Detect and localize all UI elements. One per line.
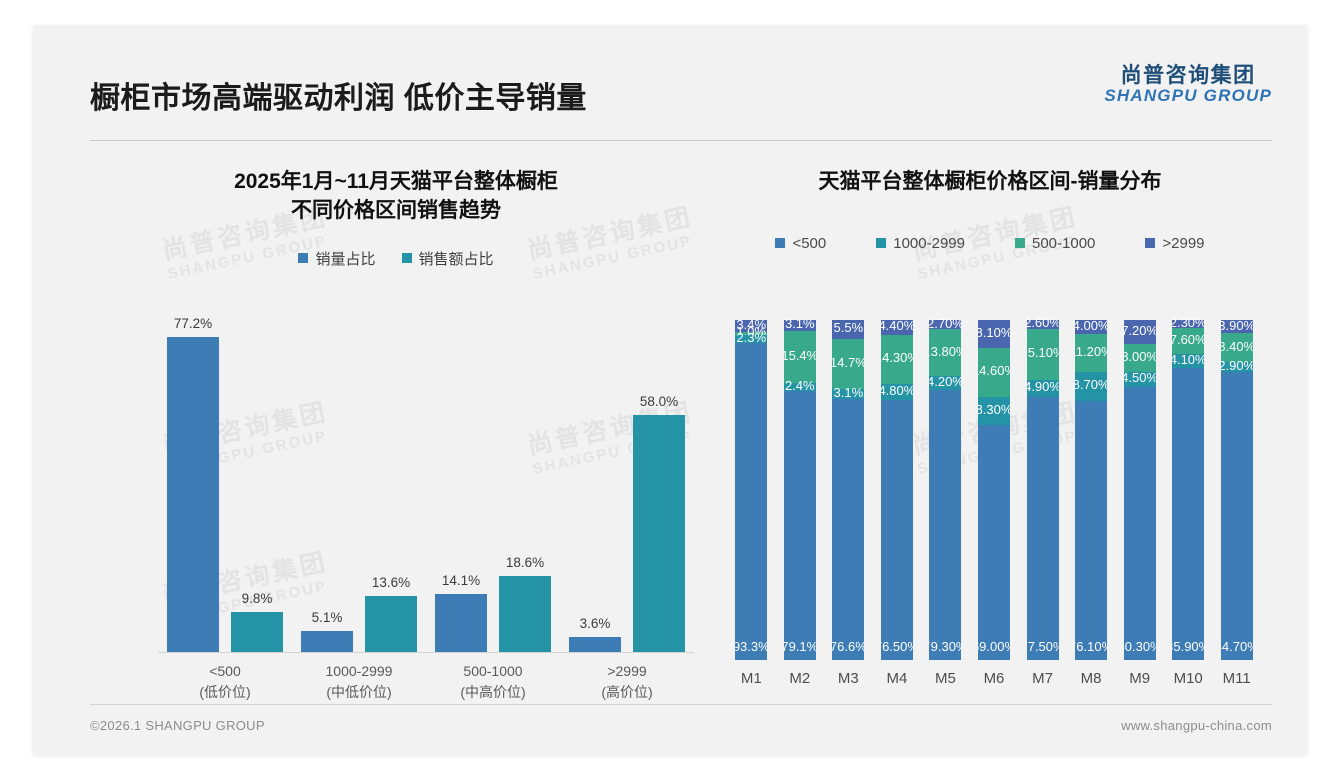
bar-1[interactable]: 18.6% xyxy=(499,305,551,652)
segment-value-label: 76.50% xyxy=(874,639,920,654)
bar-rect xyxy=(167,337,219,652)
segment-value-label: 69.00% xyxy=(971,639,1017,654)
segment-value-label: 15.4% xyxy=(777,348,823,363)
legend-swatch-icon xyxy=(775,238,785,248)
brand-logo: 尚普咨询集团 SHANGPU GROUP xyxy=(1104,65,1272,105)
footer-copyright: ©2026.1 SHANGPU GROUP xyxy=(90,718,265,733)
left-chart-title-line2: 不同价格区间销售趋势 xyxy=(90,197,702,226)
stacked-bar: 3.4%1.0%2.3%93.3% xyxy=(735,320,767,660)
segment-value-label: 5.5% xyxy=(825,320,871,335)
segment-value-label: 80.30% xyxy=(1117,639,1163,654)
legend-swatch-icon xyxy=(402,253,412,263)
stacked-segment: 2.90% xyxy=(1221,362,1253,372)
legend-label: 销售额占比 xyxy=(419,248,494,269)
x-axis-tick-label: >2999(高价位) xyxy=(547,661,707,703)
stacked-segment: 76.10% xyxy=(1075,401,1107,660)
bar-group: 3.6%58.0%>2999(高价位) xyxy=(560,305,694,652)
x-tick-primary: >2999 xyxy=(547,661,707,682)
right-chart-panel: 天猫平台整体橱柜价格区间-销量分布 <5001000-2999500-1000>… xyxy=(709,150,1271,710)
stacked-segment: 2.30% xyxy=(1172,320,1204,328)
stacked-segment: 69.00% xyxy=(978,425,1010,660)
left-chart-panel: 2025年1月~11月天猫平台整体橱柜 不同价格区间销售趋势 销量占比销售额占比… xyxy=(90,150,702,710)
legend-label: >2999 xyxy=(1162,235,1204,252)
stacked-segment: 8.10% xyxy=(978,320,1010,348)
stacked-segment: 4.10% xyxy=(1172,354,1204,368)
right-chart-area: 3.4%1.0%2.3%93.3%M13.1%15.4%2.4%79.1%M25… xyxy=(709,320,1271,710)
slide-canvas: 尚普咨询集团 SHANGPU GROUP 尚普咨询集团 SHANGPU GROU… xyxy=(33,25,1307,755)
stacked-bar-column[interactable]: 4.40%14.30%4.80%76.50%M4 xyxy=(873,320,922,660)
left-chart-legend: 销量占比销售额占比 xyxy=(90,248,702,269)
bar-value-label: 5.1% xyxy=(287,610,367,625)
segment-value-label: 4.80% xyxy=(874,383,920,398)
segment-value-label: 77.50% xyxy=(1020,639,1066,654)
bar-value-label: 3.6% xyxy=(555,616,635,631)
stacked-segment: 4.90% xyxy=(1027,380,1059,397)
bar-1[interactable]: 58.0% xyxy=(633,305,685,652)
stacked-segment: 80.30% xyxy=(1124,387,1156,660)
header-divider xyxy=(90,140,1272,141)
stacked-segment: 77.50% xyxy=(1027,397,1059,660)
bar-rect xyxy=(365,596,417,652)
stacked-bar: 4.40%14.30%4.80%76.50% xyxy=(881,320,913,660)
stacked-segment: 4.40% xyxy=(881,320,913,335)
slide-header: 橱柜市场高端驱动利润 低价主导销量 尚普咨询集团 SHANGPU GROUP xyxy=(33,25,1307,120)
bar-rect xyxy=(435,594,487,652)
segment-value-label: 14.7% xyxy=(825,355,871,370)
stacked-segment: 2.4% xyxy=(784,383,816,391)
stacked-bar-column[interactable]: 4.00%11.20%8.70%76.10%M8 xyxy=(1067,320,1116,660)
stacked-segment: 76.6% xyxy=(832,399,864,660)
stacked-segment: 14.30% xyxy=(881,335,913,384)
stacked-segment: 14.60% xyxy=(978,348,1010,398)
legend-label: <500 xyxy=(792,235,826,252)
right-chart-legend: <5001000-2999500-1000>2999 xyxy=(709,235,1271,252)
right-chart-title: 天猫平台整体橱柜价格区间-销量分布 xyxy=(709,150,1271,197)
stacked-segment: 7.60% xyxy=(1172,328,1204,354)
legend-item-3[interactable]: >2999 xyxy=(1145,235,1204,252)
bar-value-label: 58.0% xyxy=(619,394,699,409)
bar-value-label: 14.1% xyxy=(421,573,501,588)
segment-value-label: 76.6% xyxy=(825,639,871,654)
stacked-segment: 8.70% xyxy=(1075,372,1107,402)
bar-rect xyxy=(633,415,685,652)
bar-0[interactable]: 5.1% xyxy=(301,305,353,652)
stacked-bar-column[interactable]: 2.30%7.60%4.10%85.90%M10 xyxy=(1164,320,1213,660)
stacked-bar-column[interactable]: 2.60%15.10%4.90%77.50%M7 xyxy=(1018,320,1067,660)
segment-value-label: 8.10% xyxy=(971,325,1017,340)
stacked-bar: 5.5%14.7%3.1%76.6% xyxy=(832,320,864,660)
legend-swatch-icon xyxy=(876,238,886,248)
segment-value-label: 4.00% xyxy=(1068,318,1114,333)
segment-value-label: 13.80% xyxy=(922,344,968,359)
stacked-segment: 79.1% xyxy=(784,391,816,660)
segment-value-label: 7.60% xyxy=(1165,332,1211,347)
stacked-segment: 85.90% xyxy=(1172,368,1204,660)
footer-divider xyxy=(90,704,1272,705)
bar-group: 14.1%18.6%500-1000(中高价位) xyxy=(426,305,560,652)
segment-value-label: 11.20% xyxy=(1068,344,1114,359)
stacked-segment: 13.80% xyxy=(929,329,961,376)
stacked-segment: 4.50% xyxy=(1124,372,1156,387)
segment-value-label: 8.30% xyxy=(971,402,1017,417)
legend-label: 1000-2999 xyxy=(893,235,965,252)
segment-value-label: 7.20% xyxy=(1117,323,1163,338)
stacked-bar-column[interactable]: 3.4%1.0%2.3%93.3%M1 xyxy=(727,320,776,660)
stacked-bar-column[interactable]: 7.20%8.00%4.50%80.30%M9 xyxy=(1115,320,1164,660)
segment-value-label: 85.90% xyxy=(1165,639,1211,654)
legend-swatch-icon xyxy=(1145,238,1155,248)
stacked-segment: 3.90% xyxy=(1221,320,1253,333)
stacked-bar: 7.20%8.00%4.50%80.30% xyxy=(1124,320,1156,660)
stacked-segment: 8.00% xyxy=(1124,344,1156,371)
page-title: 橱柜市场高端驱动利润 低价主导销量 xyxy=(90,73,587,117)
stacked-segment: 76.50% xyxy=(881,400,913,660)
stacked-segment: 15.4% xyxy=(784,331,816,383)
left-chart-title: 2025年1月~11月天猫平台整体橱柜 不同价格区间销售趋势 xyxy=(90,150,702,226)
stacked-segment: 2.60% xyxy=(1027,320,1059,329)
legend-item-2[interactable]: 500-1000 xyxy=(1015,235,1095,252)
stacked-bar: 2.60%15.10%4.90%77.50% xyxy=(1027,320,1059,660)
x-axis-tick-label: M11 xyxy=(1202,670,1272,687)
left-chart-area: 77.2%9.8%<500(低价位)5.1%13.6%1000-2999(中低价… xyxy=(90,305,702,705)
stacked-segment: 3.1% xyxy=(832,389,864,400)
segment-value-label: 8.70% xyxy=(1068,377,1114,392)
stacked-segment: 14.7% xyxy=(832,339,864,389)
segment-value-label: 4.90% xyxy=(1020,379,1066,394)
stacked-segment: 8.40% xyxy=(1221,333,1253,362)
segment-value-label: 8.00% xyxy=(1117,349,1163,364)
stacked-segment: 2.3% xyxy=(735,335,767,343)
stacked-bar-column[interactable]: 8.10%14.60%8.30%69.00%M6 xyxy=(970,320,1019,660)
brand-name-en: SHANGPU GROUP xyxy=(1104,87,1272,105)
segment-value-label: 4.10% xyxy=(1165,352,1211,367)
stacked-segment: 11.20% xyxy=(1075,334,1107,372)
legend-swatch-icon xyxy=(298,253,308,263)
segment-value-label: 4.50% xyxy=(1117,370,1163,385)
x-tick-secondary: (高价位) xyxy=(547,682,707,703)
stacked-segment: 5.5% xyxy=(832,320,864,339)
right-chart-plot: 3.4%1.0%2.3%93.3%M13.1%15.4%2.4%79.1%M25… xyxy=(727,320,1261,660)
stacked-bar: 2.70%13.80%4.20%79.30% xyxy=(929,320,961,660)
legend-item-0[interactable]: <500 xyxy=(775,235,826,252)
bar-value-label: 77.2% xyxy=(153,316,233,331)
segment-value-label: 93.3% xyxy=(728,639,774,654)
bar-0[interactable]: 3.6% xyxy=(569,305,621,652)
segment-value-label: 3.90% xyxy=(1214,318,1260,333)
stacked-bar: 2.30%7.60%4.10%85.90% xyxy=(1172,320,1204,660)
segment-value-label: 14.60% xyxy=(971,363,1017,378)
legend-item-0[interactable]: 销量占比 xyxy=(298,248,375,269)
bar-0[interactable]: 14.1% xyxy=(435,305,487,652)
left-chart-title-line1: 2025年1月~11月天猫平台整体橱柜 xyxy=(90,168,702,197)
legend-item-1[interactable]: 1000-2999 xyxy=(876,235,965,252)
stacked-bar: 8.10%14.60%8.30%69.00% xyxy=(978,320,1010,660)
bar-1[interactable]: 13.6% xyxy=(365,305,417,652)
bar-1[interactable]: 9.8% xyxy=(231,305,283,652)
stacked-segment: 8.30% xyxy=(978,397,1010,425)
legend-swatch-icon xyxy=(1015,238,1025,248)
footer-website: www.shangpu-china.com xyxy=(1121,718,1272,733)
stacked-bar-column[interactable]: 2.70%13.80%4.20%79.30%M5 xyxy=(921,320,970,660)
stacked-bar: 4.00%11.20%8.70%76.10% xyxy=(1075,320,1107,660)
stacked-segment: 84.70% xyxy=(1221,372,1253,660)
segment-value-label: 3.1% xyxy=(777,316,823,331)
stacked-bar: 3.1%15.4%2.4%79.1% xyxy=(784,320,816,660)
segment-value-label: 79.30% xyxy=(922,639,968,654)
segment-value-label: 76.10% xyxy=(1068,639,1114,654)
stacked-bar-column[interactable]: 3.1%15.4%2.4%79.1%M2 xyxy=(776,320,825,660)
bar-group: 77.2%9.8%<500(低价位) xyxy=(158,305,292,652)
stacked-segment: 15.10% xyxy=(1027,329,1059,380)
brand-name-cn: 尚普咨询集团 xyxy=(1104,65,1272,87)
bar-value-label: 13.6% xyxy=(351,575,431,590)
legend-label: 500-1000 xyxy=(1032,235,1095,252)
bar-value-label: 9.8% xyxy=(217,591,297,606)
bar-value-label: 18.6% xyxy=(485,555,565,570)
bar-rect xyxy=(569,637,621,652)
stacked-segment: 2.70% xyxy=(929,320,961,329)
segment-value-label: 79.1% xyxy=(777,639,823,654)
bar-rect xyxy=(499,576,551,652)
segment-value-label: 15.10% xyxy=(1020,345,1066,360)
left-chart-plot: 77.2%9.8%<500(低价位)5.1%13.6%1000-2999(中低价… xyxy=(158,305,694,653)
segment-value-label: 8.40% xyxy=(1214,339,1260,354)
bar-0[interactable]: 77.2% xyxy=(167,305,219,652)
stacked-segment: 4.20% xyxy=(929,376,961,390)
stacked-segment: 3.1% xyxy=(784,320,816,331)
legend-item-1[interactable]: 销售额占比 xyxy=(402,248,494,269)
segment-value-label: 4.40% xyxy=(874,318,920,333)
bar-rect xyxy=(301,631,353,652)
segment-value-label: 84.70% xyxy=(1214,639,1260,654)
stacked-segment: 4.80% xyxy=(881,384,913,400)
legend-label: 销量占比 xyxy=(315,248,375,269)
segment-value-label: 14.30% xyxy=(874,350,920,365)
stacked-bar: 3.90%8.40%2.90%84.70% xyxy=(1221,320,1253,660)
segment-value-label: 4.20% xyxy=(922,374,968,389)
stacked-bar-column[interactable]: 5.5%14.7%3.1%76.6%M3 xyxy=(824,320,873,660)
bar-group: 5.1%13.6%1000-2999(中低价位) xyxy=(292,305,426,652)
stacked-segment: 93.3% xyxy=(735,343,767,660)
stacked-segment: 79.30% xyxy=(929,390,961,660)
stacked-bar-column[interactable]: 3.90%8.40%2.90%84.70%M11 xyxy=(1212,320,1261,660)
stacked-segment: 4.00% xyxy=(1075,320,1107,334)
stacked-segment: 7.20% xyxy=(1124,320,1156,344)
bar-rect xyxy=(231,612,283,652)
